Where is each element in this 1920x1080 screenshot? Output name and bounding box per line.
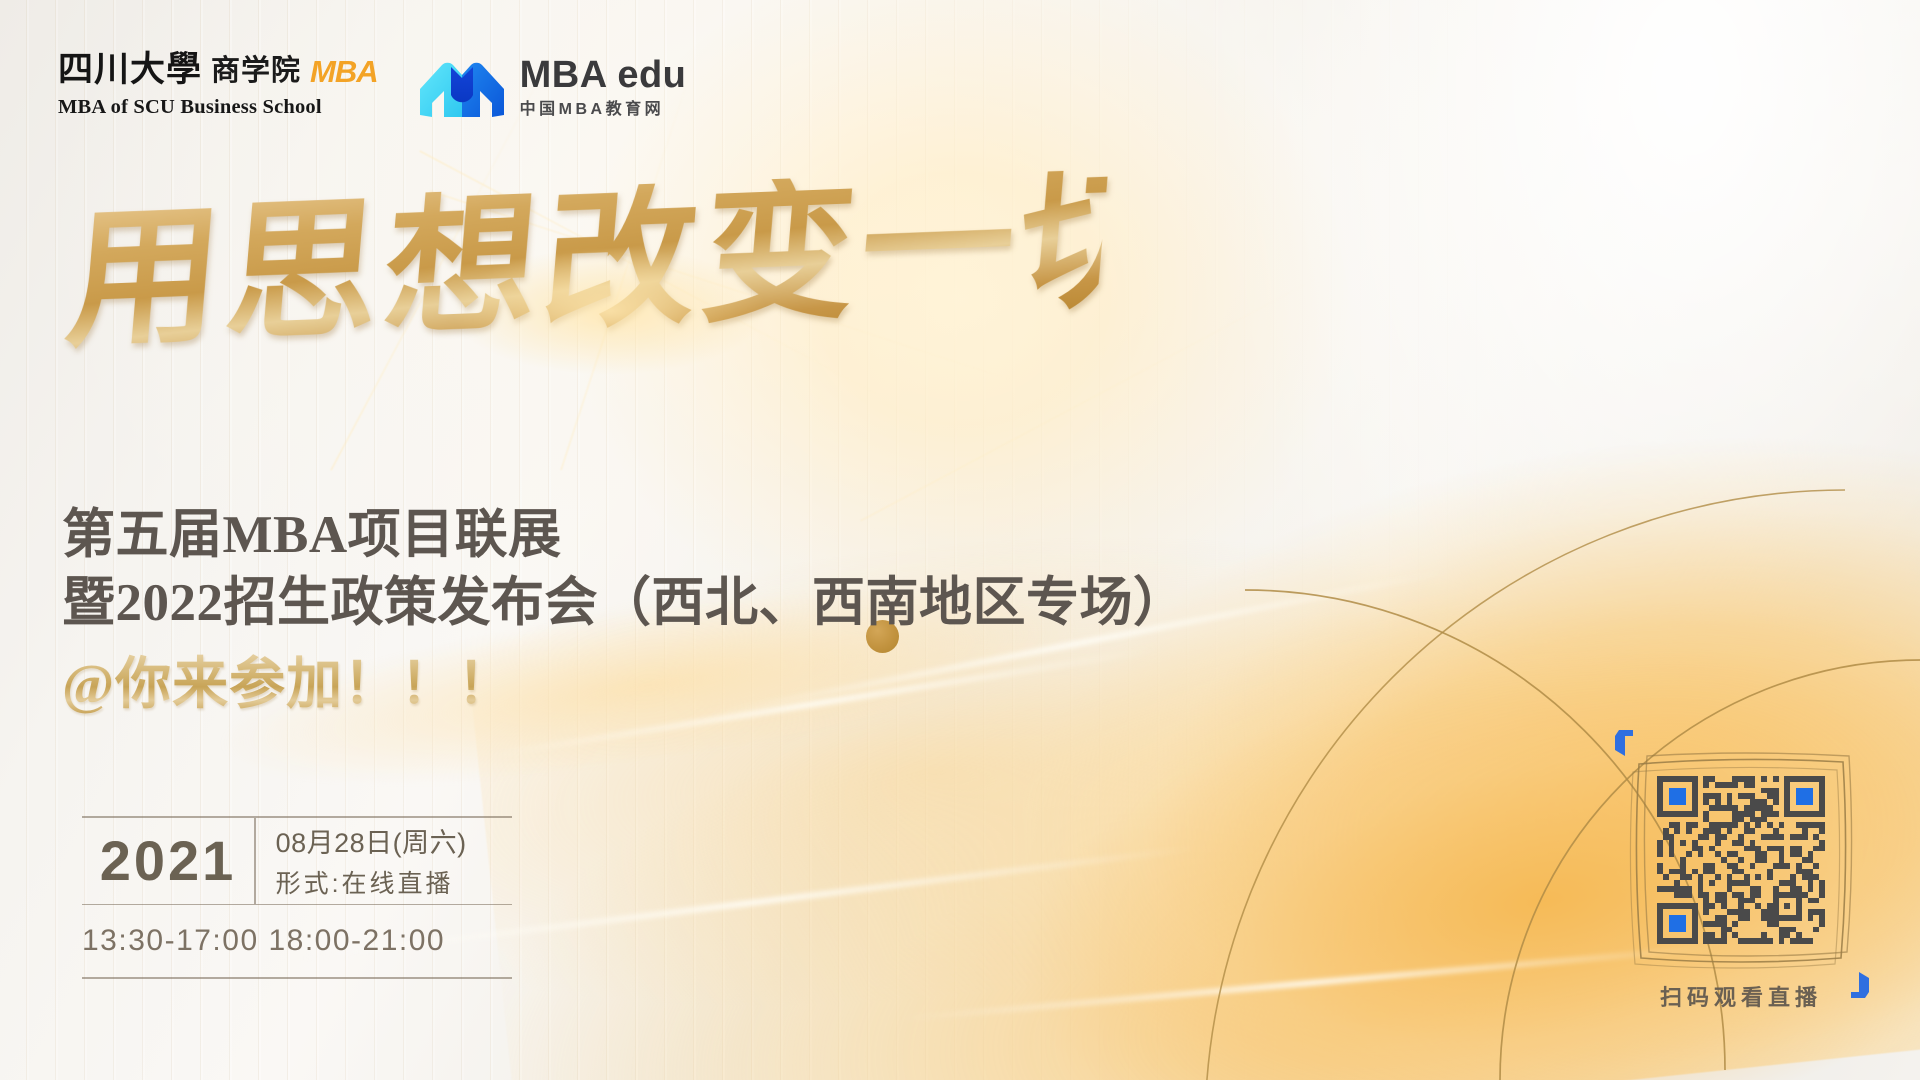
- scu-english-name: MBA of SCU Business School: [58, 96, 378, 119]
- quote-open-icon: [1611, 726, 1645, 760]
- event-year: 2021: [82, 818, 254, 904]
- event-title-line-1: 第五届MBA项目联展: [62, 502, 1187, 570]
- mba-edu-chevron-icon: [418, 55, 506, 119]
- scu-school-name: 商学院: [211, 57, 301, 87]
- schedule-date-row: 2021 08月28日(周六) 形式:在线直播: [82, 818, 512, 904]
- qr-caption: 扫码观看直播: [1626, 980, 1856, 1012]
- scu-chinese-name: 四川大學: [58, 52, 202, 87]
- mba-edu-title: MBA edu: [520, 56, 687, 94]
- qr-frame[interactable]: [1643, 762, 1839, 958]
- scu-logo: 四川大學 商学院 MBA MBA of SCU Business School: [58, 52, 378, 119]
- qr-code-image[interactable]: [1657, 776, 1825, 944]
- calligraphy-headline: 用思想改变一切: [70, 186, 1100, 396]
- headline-text: 用思想改变一切: [62, 166, 1109, 357]
- quote-close-icon: [1839, 968, 1873, 1002]
- schedule-rule-bottom: [82, 977, 512, 979]
- event-sessions: 13:30-17:00 18:00-21:00: [82, 905, 512, 977]
- event-date: 08月28日(周六): [276, 821, 512, 860]
- logo-bar: 四川大學 商学院 MBA MBA of SCU Business School: [58, 52, 686, 119]
- schedule-block: 2021 08月28日(周六) 形式:在线直播 13:30-17:00 18:0…: [82, 816, 512, 979]
- event-title-line-2: 暨2022招生政策发布会（西北、西南地区专场）: [62, 570, 1187, 638]
- mba-edu-subtitle: 中国MBA教育网: [520, 102, 687, 118]
- mba-edu-logo: MBA edu 中国MBA教育网: [418, 52, 687, 119]
- event-invite-text: @你来参加！！！: [62, 652, 1187, 719]
- promo-banner: 四川大學 商学院 MBA MBA of SCU Business School: [0, 0, 1920, 1080]
- qr-block[interactable]: 扫码观看直播: [1626, 762, 1856, 1012]
- event-title-block: 第五届MBA项目联展 暨2022招生政策发布会（西北、西南地区专场） @你来参加…: [62, 502, 1187, 719]
- event-format: 形式:在线直播: [276, 864, 512, 900]
- scu-mba-wordmark: MBA: [310, 56, 378, 87]
